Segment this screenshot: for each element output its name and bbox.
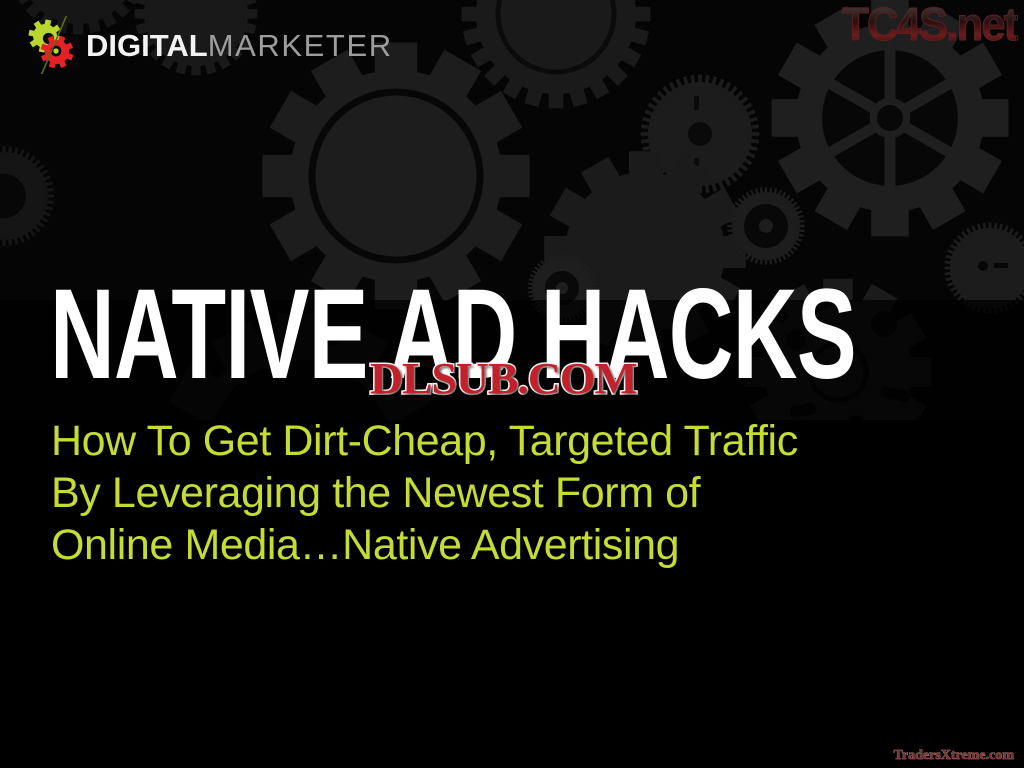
subtitle-line-3: Online Media…Native Advertising [51, 519, 798, 571]
logo-word-bold: DIGITAL [86, 28, 208, 63]
gears-logo-icon [26, 16, 82, 74]
watermark-tradersxtreme: TradersXtreme.com [894, 748, 1014, 764]
watermark-tc4s: TC4S.net [842, 0, 1016, 50]
subtitle-line-2: By Leveraging the Newest Form of [51, 467, 798, 519]
slide-subtitle: How To Get Dirt-Cheap, Targeted Traffic … [51, 415, 798, 571]
digitalmarketer-logo: DIGITALMARKETER [26, 14, 393, 76]
presentation-slide: DIGITALMARKETER NATIVE AD HACKS How To G… [0, 0, 1024, 768]
gear-decoration [727, 187, 805, 265]
watermark-dlsub: DLSUB.COM [370, 357, 637, 401]
logo-wordmark: DIGITALMARKETER [86, 30, 393, 61]
subtitle-line-1: How To Get Dirt-Cheap, Targeted Traffic [51, 415, 798, 467]
logo-word-light: MARKETER [208, 28, 393, 63]
